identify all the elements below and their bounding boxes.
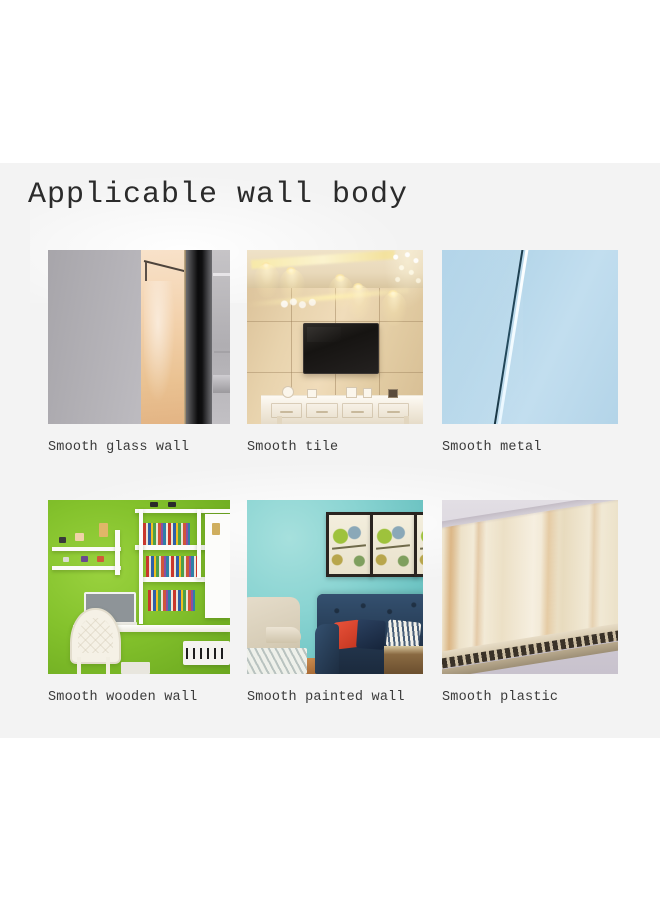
glass-handrail-post <box>145 262 147 281</box>
study-shelf-bracket <box>115 530 120 575</box>
plastic-panel-photo <box>442 500 618 674</box>
study-storage-box <box>121 662 150 674</box>
wall-type-caption: Smooth plastic <box>442 690 618 706</box>
study-trinket <box>150 502 158 507</box>
glass-cabinet-lower <box>213 375 230 392</box>
tile-decor-object <box>307 389 317 398</box>
wall-type-caption: Smooth tile <box>247 440 423 456</box>
study-books-row <box>143 523 190 546</box>
sofa-pillow-navy <box>356 619 386 650</box>
living-room-side-table <box>384 646 423 674</box>
tile-sideboard-cabinet <box>261 395 423 424</box>
study-trinket <box>63 557 69 562</box>
wall-type-item-metal[interactable]: Smooth metal <box>442 250 618 456</box>
glass-gray-panel-right <box>212 250 230 424</box>
tile-crystal-chandelier <box>384 250 423 309</box>
study-trinket <box>59 537 66 543</box>
sideboard-drawer <box>306 403 337 417</box>
wall-type-grid: Smooth glass wall <box>0 0 660 900</box>
sideboard-drawer <box>342 403 373 417</box>
wall-type-item-wooden[interactable]: Smooth wooden wall <box>48 500 230 706</box>
wall-type-caption: Smooth painted wall <box>247 690 423 706</box>
framed-bird-print <box>414 512 423 577</box>
wall-type-caption: Smooth wooden wall <box>48 690 230 706</box>
study-bookcase-divider <box>197 509 201 579</box>
painted-wall-photo <box>247 500 423 674</box>
tile-light-glow <box>346 285 372 319</box>
page-title: Applicable wall body <box>28 178 408 212</box>
study-trinket <box>168 502 176 507</box>
wall-type-item-tile[interactable]: Smooth tile <box>247 250 423 456</box>
wall-type-caption: Smooth metal <box>442 440 618 456</box>
study-trinket <box>81 556 88 562</box>
armchair-striped-cushion <box>247 648 307 674</box>
study-figurine <box>212 523 220 535</box>
sideboard-leg <box>404 416 409 424</box>
study-trinket <box>97 556 104 562</box>
wall-type-item-painted[interactable]: Smooth painted wall <box>247 500 423 706</box>
metal-panel-photo <box>442 250 618 424</box>
wall-type-item-plastic[interactable]: Smooth plastic <box>442 500 618 706</box>
glass-warm-lit-panel <box>141 250 185 424</box>
wooden-wall-photo <box>48 500 230 674</box>
study-figurine <box>99 523 108 537</box>
armchair-armrest <box>266 627 301 644</box>
study-keyboard-piano <box>183 641 230 665</box>
tile-wall-decoration <box>279 297 325 311</box>
study-wall-shelf <box>52 547 121 551</box>
framed-bird-print <box>326 512 372 577</box>
tile-decor-object <box>363 388 372 398</box>
glass-dark-panel <box>186 250 211 424</box>
sofa-armrest <box>315 624 339 674</box>
study-books-row <box>148 590 195 611</box>
tile-decor-object <box>346 387 357 398</box>
study-books-row <box>146 556 197 577</box>
wall-type-item-glass[interactable]: Smooth glass wall <box>48 250 230 456</box>
tile-light-glow <box>254 264 280 298</box>
tile-decor-object <box>282 386 294 398</box>
study-chair-leg <box>106 657 110 674</box>
glass-shelf-top <box>213 273 230 276</box>
study-bookcase-top <box>135 509 230 513</box>
study-picture-frame <box>75 533 84 541</box>
framed-bird-print <box>370 512 416 577</box>
glass-shelf-middle <box>214 351 230 353</box>
study-wall-shelf <box>52 566 121 570</box>
sideboard-leg <box>277 416 282 424</box>
study-chair-leg <box>77 657 81 674</box>
wall-type-caption: Smooth glass wall <box>48 440 230 456</box>
tile-wall-photo <box>247 250 423 424</box>
tile-wall-mounted-tv <box>303 323 379 374</box>
glass-wall-photo <box>48 250 230 424</box>
sideboard-drawer <box>271 403 302 417</box>
tile-decor-object <box>388 389 398 398</box>
bird-artwork <box>417 515 423 574</box>
glass-gray-panel-left <box>48 250 141 424</box>
